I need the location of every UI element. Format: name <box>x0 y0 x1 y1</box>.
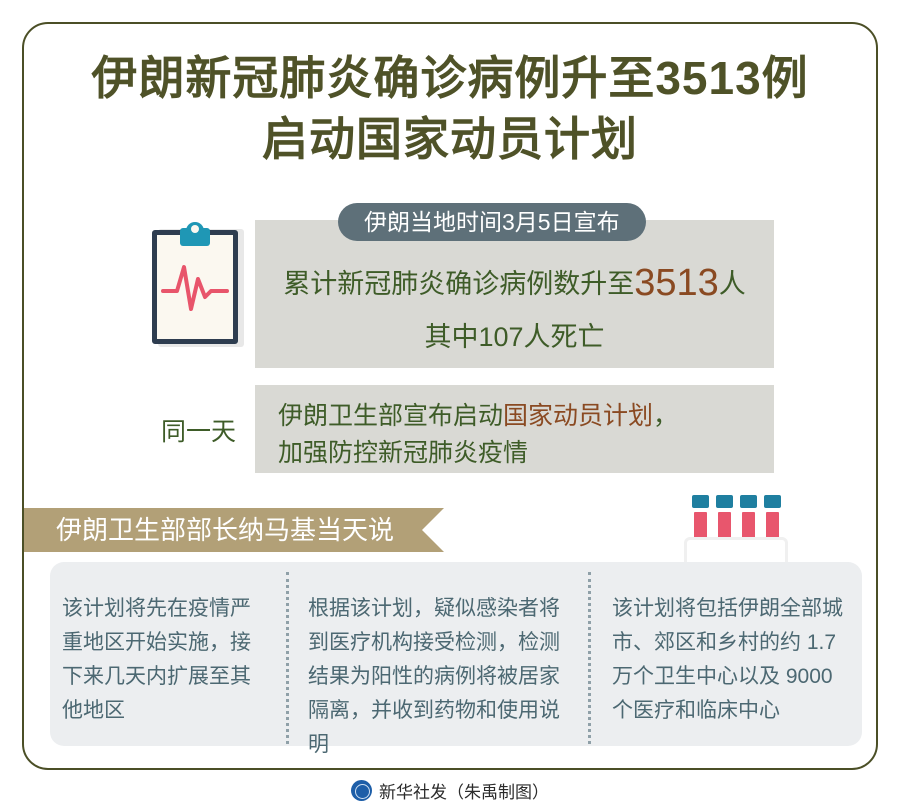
confirmed-cases-line: 累计新冠肺炎确诊病例数升至3513人 <box>255 262 774 305</box>
clipboard-clip-hole <box>191 225 199 233</box>
test-tube-cap <box>740 495 757 508</box>
page-title: 伊朗新冠肺炎确诊病例升至3513例 启动国家动员计划 <box>22 48 878 169</box>
footer: 新华社发（朱禹制图） <box>0 778 900 803</box>
confirmed-number: 3513 <box>634 262 719 304</box>
same-day-text: 伊朗卫生部宣布启动国家动员计划， 加强防控新冠肺炎疫情 <box>278 398 768 471</box>
test-tube-cap <box>716 495 733 508</box>
same-day-text-after: ， <box>653 402 678 430</box>
ribbon-label: 伊朗卫生部部长纳马基当天说 <box>56 508 394 552</box>
same-day-label: 同一天 <box>161 412 236 448</box>
column-divider-1 <box>286 572 289 744</box>
detail-column-1: 该计划将先在疫情严重地区开始实施，接下来几天内扩展至其他地区 <box>62 592 267 728</box>
test-tube-cap <box>764 495 781 508</box>
test-tube-rack-icon <box>684 495 788 571</box>
title-line-1: 伊朗新冠肺炎确诊病例升至3513例 <box>22 48 878 109</box>
clipboard-heartbeat-icon <box>152 222 240 344</box>
title-line-2: 启动国家动员计划 <box>22 109 878 170</box>
same-day-line-2: 加强防控新冠肺炎疫情 <box>278 435 768 472</box>
test-tube-cap <box>692 495 709 508</box>
clipboard-body <box>152 230 238 344</box>
date-pill-badge: 伊朗当地时间3月5日宣布 <box>338 203 646 241</box>
xinhua-logo-icon <box>351 780 372 801</box>
same-day-line-1: 伊朗卫生部宣布启动国家动员计划， <box>278 398 768 435</box>
ribbon-notch <box>422 508 444 552</box>
confirmed-suffix: 人 <box>719 269 746 299</box>
detail-column-2: 根据该计划，疑似感染者将到医疗机构接受检测，检测结果为阳性的病例将被居家隔离，并… <box>308 592 570 762</box>
confirmed-prefix: 累计新冠肺炎确诊病例数升至 <box>283 269 634 299</box>
deaths-line: 其中107人死亡 <box>255 315 774 354</box>
column-divider-2 <box>588 572 591 744</box>
heartbeat-line-icon <box>157 235 233 339</box>
detail-column-3: 该计划将包括伊朗全部城市、郊区和乡村的约 1.7 万个卫生中心以及 9000 个… <box>612 592 854 728</box>
footer-credit: 新华社发（朱禹制图） <box>379 778 549 803</box>
same-day-text-before: 伊朗卫生部宣布启动 <box>278 402 503 430</box>
same-day-highlight: 国家动员计划 <box>503 402 653 430</box>
minister-quote-ribbon: 伊朗卫生部部长纳马基当天说 <box>24 508 444 552</box>
